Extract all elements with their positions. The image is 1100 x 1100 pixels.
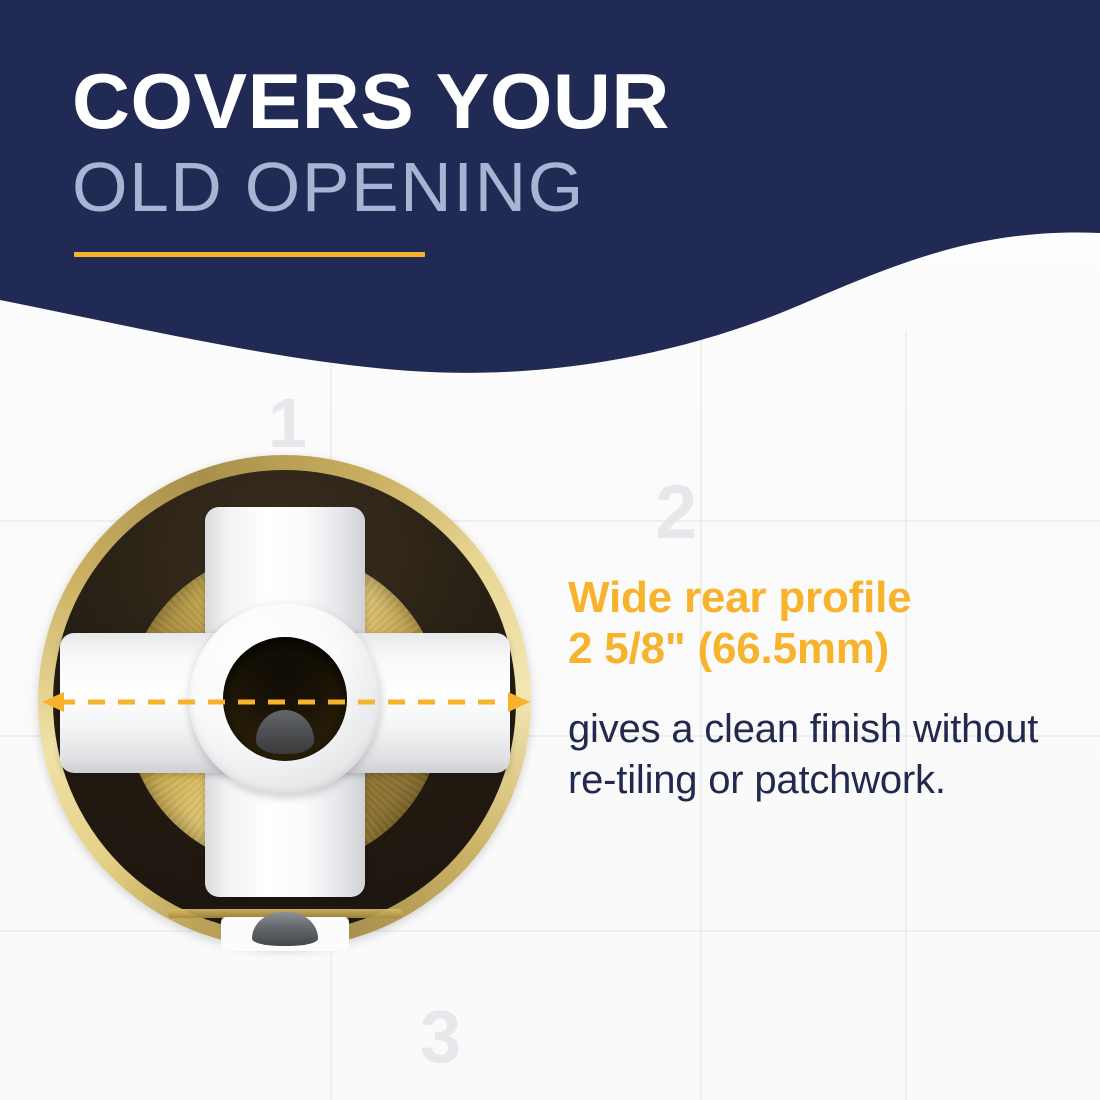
- width-dimension-arrow: [40, 690, 532, 714]
- dimension-arrowhead-left: [42, 692, 64, 712]
- watermark-3: 3: [420, 1000, 461, 1074]
- feature-copy-block: Wide rear profile 2 5/8" (66.5mm) gives …: [568, 572, 1068, 806]
- feature-headline: Wide rear profile 2 5/8" (66.5mm): [568, 572, 1068, 674]
- watermark-2: 2: [655, 475, 697, 551]
- feature-body-text: gives a clean finish without re-tiling o…: [568, 704, 1068, 806]
- gold-accent-rule: [74, 252, 425, 257]
- infographic-canvas: 1 2 3 COVERS YOUR OLD OPENING: [0, 0, 1100, 1100]
- watermark-1: 1: [268, 388, 307, 458]
- page-title-line-2: OLD OPENING: [72, 152, 585, 222]
- page-title-line-1: COVERS YOUR: [72, 62, 670, 140]
- dimension-arrowhead-right: [508, 692, 530, 712]
- feature-headline-line-1: Wide rear profile: [568, 572, 1068, 623]
- feature-headline-line-2: 2 5/8" (66.5mm): [568, 623, 1068, 674]
